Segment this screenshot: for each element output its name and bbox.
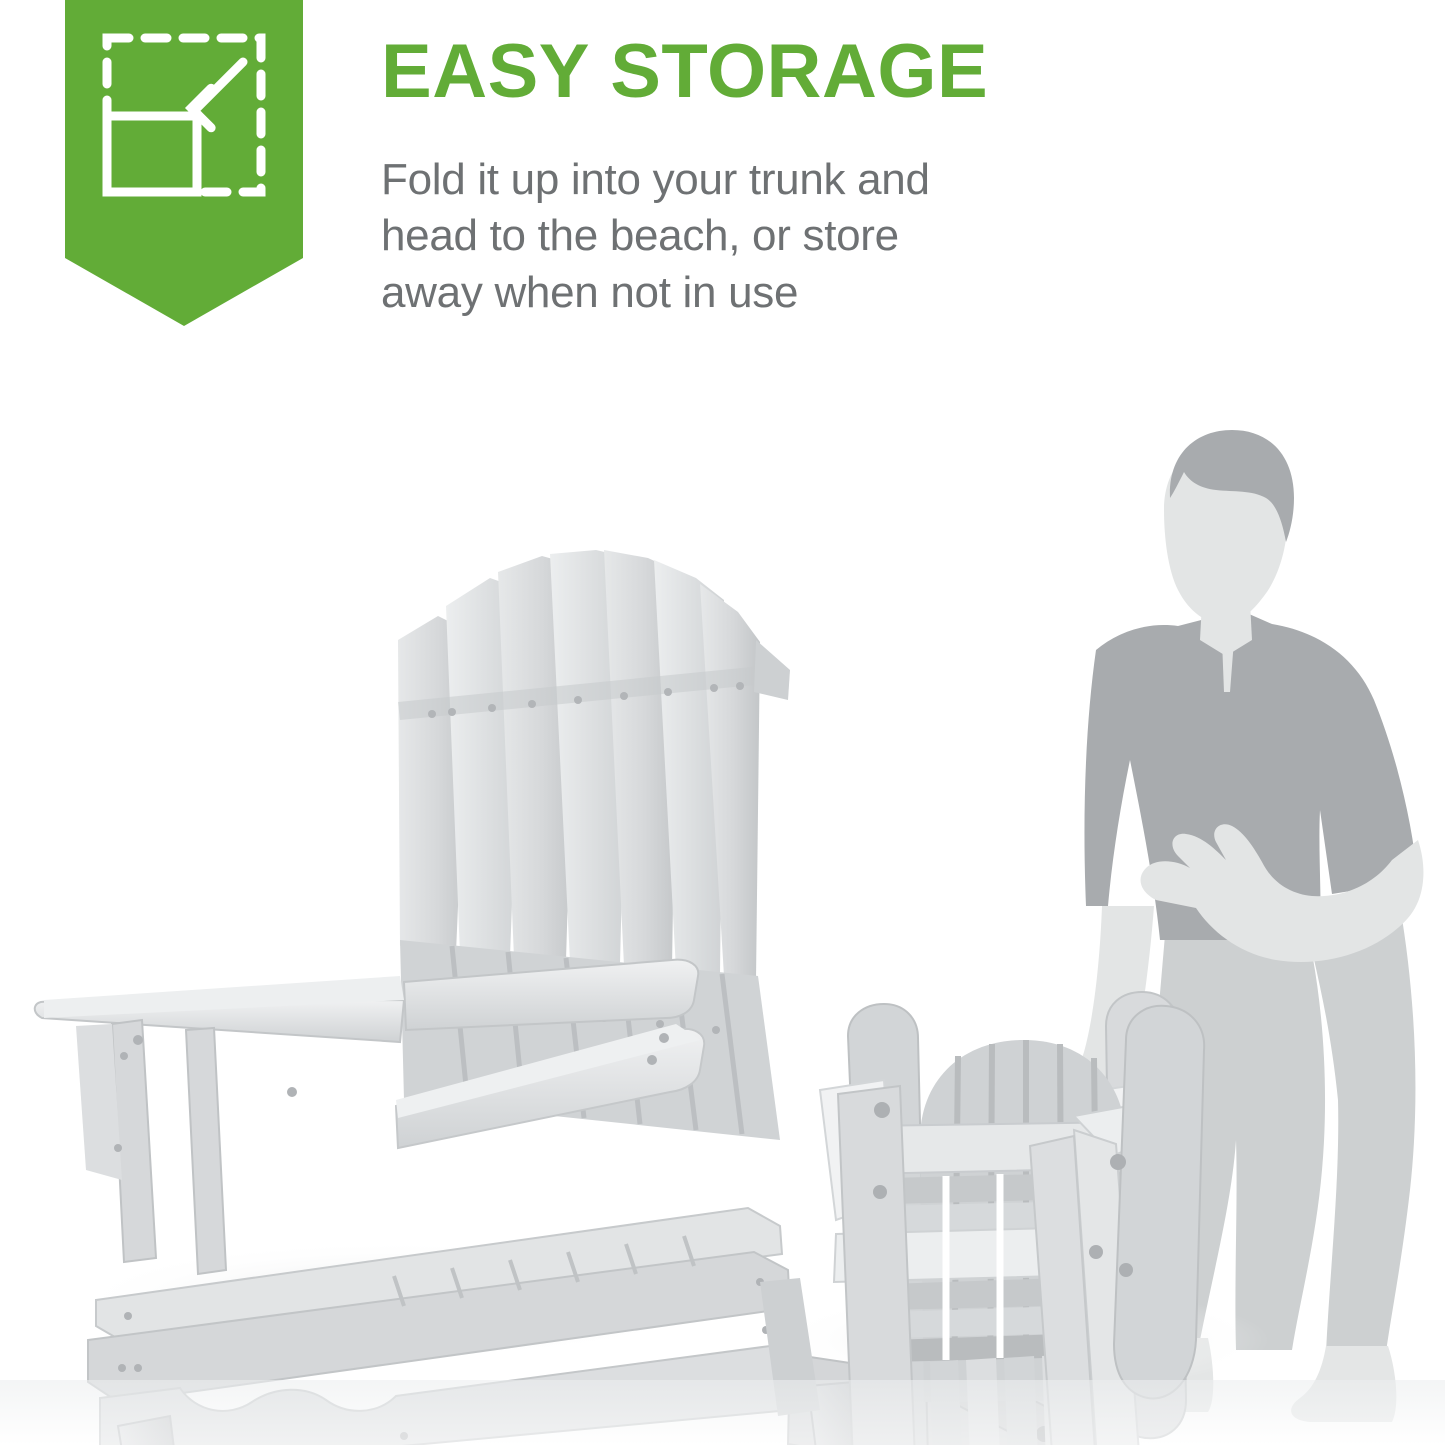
product-photo-scene xyxy=(0,340,1445,1445)
description-line-3: away when not in use xyxy=(381,265,1081,321)
floor-fade xyxy=(0,1380,1445,1445)
feature-badge xyxy=(65,0,303,326)
feature-description: Fold it up into your trunk and head to t… xyxy=(381,152,1081,321)
folded-adirondack-chair xyxy=(820,992,1204,1445)
header-band: EASY STORAGE Fold it up into your trunk … xyxy=(0,0,1445,340)
badge-ribbon-shape xyxy=(65,0,303,326)
folded-side-board-right xyxy=(1114,1006,1204,1399)
description-line-1: Fold it up into your trunk and xyxy=(381,152,1081,208)
page-title: EASY STORAGE xyxy=(381,34,988,110)
chair-back-slats xyxy=(398,550,790,980)
description-line-2: head to the beach, or store xyxy=(381,208,1081,264)
infographic-canvas: EASY STORAGE Fold it up into your trunk … xyxy=(0,0,1445,1445)
